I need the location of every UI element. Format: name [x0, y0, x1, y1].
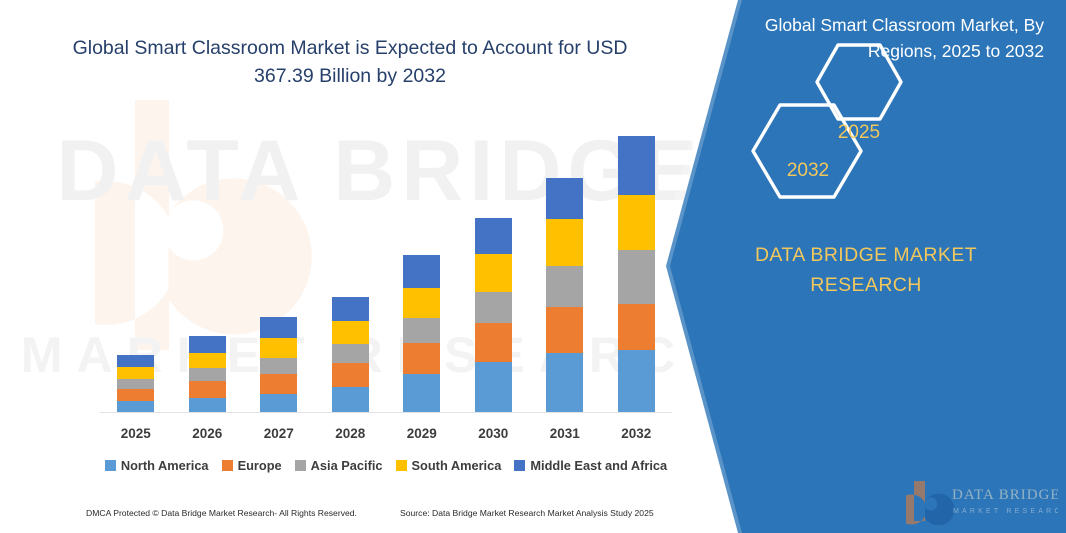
bar-segment	[475, 292, 512, 324]
bar-segment	[332, 387, 369, 412]
dbmr-logo-icon: DATA BRIDGE MARKET RESEARCH	[906, 477, 1058, 525]
bar-segment	[475, 323, 512, 362]
bar-segment	[189, 381, 226, 398]
bar-segment	[117, 379, 154, 389]
bar-segment	[117, 389, 154, 402]
svg-text:MARKET RESEARCH: MARKET RESEARCH	[953, 508, 1058, 515]
legend-label: Middle East and Africa	[530, 458, 667, 473]
bar-segment	[117, 367, 154, 379]
x-axis-label-2026: 2026	[172, 426, 244, 441]
legend-swatch-icon	[105, 460, 116, 471]
dbmr-logo: DATA BRIDGE MARKET RESEARCH	[906, 477, 1058, 525]
bar-segment	[189, 336, 226, 353]
bar-column	[315, 120, 387, 412]
infographic-root: DATA BRIDGE MARKET RESEARCH Global Smart…	[0, 0, 1066, 533]
bar-column	[529, 120, 601, 412]
stacked-bar-2028	[332, 297, 369, 412]
svg-text:DATA BRIDGE: DATA BRIDGE	[952, 487, 1058, 503]
legend-item[interactable]: Asia Pacific	[295, 458, 383, 473]
bar-segment	[403, 288, 440, 318]
legend-label: South America	[412, 458, 502, 473]
legend-label: North America	[121, 458, 209, 473]
bar-column	[243, 120, 315, 412]
stacked-bar-2031	[546, 178, 583, 412]
x-axis-label-2025: 2025	[100, 426, 172, 441]
x-axis-label-2027: 2027	[243, 426, 315, 441]
x-axis-label-2032: 2032	[601, 426, 673, 441]
bar-segment	[403, 374, 440, 412]
legend-swatch-icon	[295, 460, 306, 471]
bar-column	[601, 120, 673, 412]
chart-title: Global Smart Classroom Market is Expecte…	[60, 34, 640, 90]
stacked-bar-2027	[260, 317, 297, 412]
bar-segment	[546, 266, 583, 307]
bar-segment	[475, 362, 512, 412]
legend-item[interactable]: Europe	[222, 458, 282, 473]
bar-segment	[403, 343, 440, 375]
bar-segment	[260, 317, 297, 338]
bar-segment	[403, 255, 440, 288]
bar-segment	[260, 374, 297, 394]
legend-label: Europe	[238, 458, 282, 473]
stacked-bar-2025	[117, 355, 154, 412]
stacked-bar-2032	[618, 136, 655, 412]
legend-swatch-icon	[514, 460, 525, 471]
chart-legend: North AmericaEuropeAsia PacificSouth Ame…	[90, 458, 682, 473]
x-axis-line	[100, 412, 672, 413]
bar-segment	[332, 363, 369, 387]
bar-segment	[332, 321, 369, 344]
bar-segment	[475, 254, 512, 292]
x-axis-label-2028: 2028	[315, 426, 387, 441]
bar-segment	[260, 394, 297, 412]
brand-line-2: RESEARCH	[666, 270, 1066, 300]
bar-column	[172, 120, 244, 412]
bar-segment	[332, 297, 369, 321]
hexagon-group: 2032 2025	[666, 0, 1066, 230]
bar-segment	[117, 401, 154, 412]
bar-segment	[546, 353, 583, 412]
footer-copyright: DMCA Protected © Data Bridge Market Rese…	[86, 508, 357, 518]
bar-segment	[475, 218, 512, 254]
bar-segment	[546, 307, 583, 354]
x-axis-label-2030: 2030	[458, 426, 530, 441]
bar-segment	[546, 219, 583, 266]
bar-segment	[260, 358, 297, 374]
bar-segment	[403, 318, 440, 343]
bar-segment	[189, 353, 226, 369]
legend-item[interactable]: Middle East and Africa	[514, 458, 667, 473]
bar-segment	[546, 178, 583, 219]
x-axis-label-2029: 2029	[386, 426, 458, 441]
bar-segment	[189, 368, 226, 381]
bar-segment	[618, 304, 655, 349]
bar-column	[386, 120, 458, 412]
bar-chart-plot	[100, 120, 672, 412]
bar-segment	[189, 398, 226, 412]
legend-item[interactable]: North America	[105, 458, 209, 473]
bar-segment	[332, 344, 369, 363]
x-axis-labels: 20252026202720282029203020312032	[100, 426, 672, 441]
stacked-bar-2029	[403, 255, 440, 412]
x-axis-label-2031: 2031	[529, 426, 601, 441]
legend-item[interactable]: South America	[396, 458, 502, 473]
brand-panel: Global Smart Classroom Market, By Region…	[666, 0, 1066, 533]
stacked-bar-2030	[475, 218, 512, 412]
bar-segment	[618, 350, 655, 412]
legend-label: Asia Pacific	[311, 458, 383, 473]
bar-segment	[618, 136, 655, 195]
legend-swatch-icon	[396, 460, 407, 471]
chart-panel: DATA BRIDGE MARKET RESEARCH Global Smart…	[0, 0, 760, 533]
bar-segment	[618, 250, 655, 305]
brand-name: DATA BRIDGE MARKET RESEARCH	[666, 240, 1066, 300]
brand-line-1: DATA BRIDGE MARKET	[755, 244, 977, 266]
hexagon-shapes-icon	[666, 0, 1066, 230]
bar-column	[100, 120, 172, 412]
legend-swatch-icon	[222, 460, 233, 471]
footer-source: Source: Data Bridge Market Research Mark…	[400, 508, 654, 518]
bar-segment	[117, 355, 154, 367]
bar-column	[458, 120, 530, 412]
stacked-bar-2026	[189, 336, 226, 412]
bar-segment	[260, 338, 297, 358]
bar-segment	[618, 195, 655, 250]
